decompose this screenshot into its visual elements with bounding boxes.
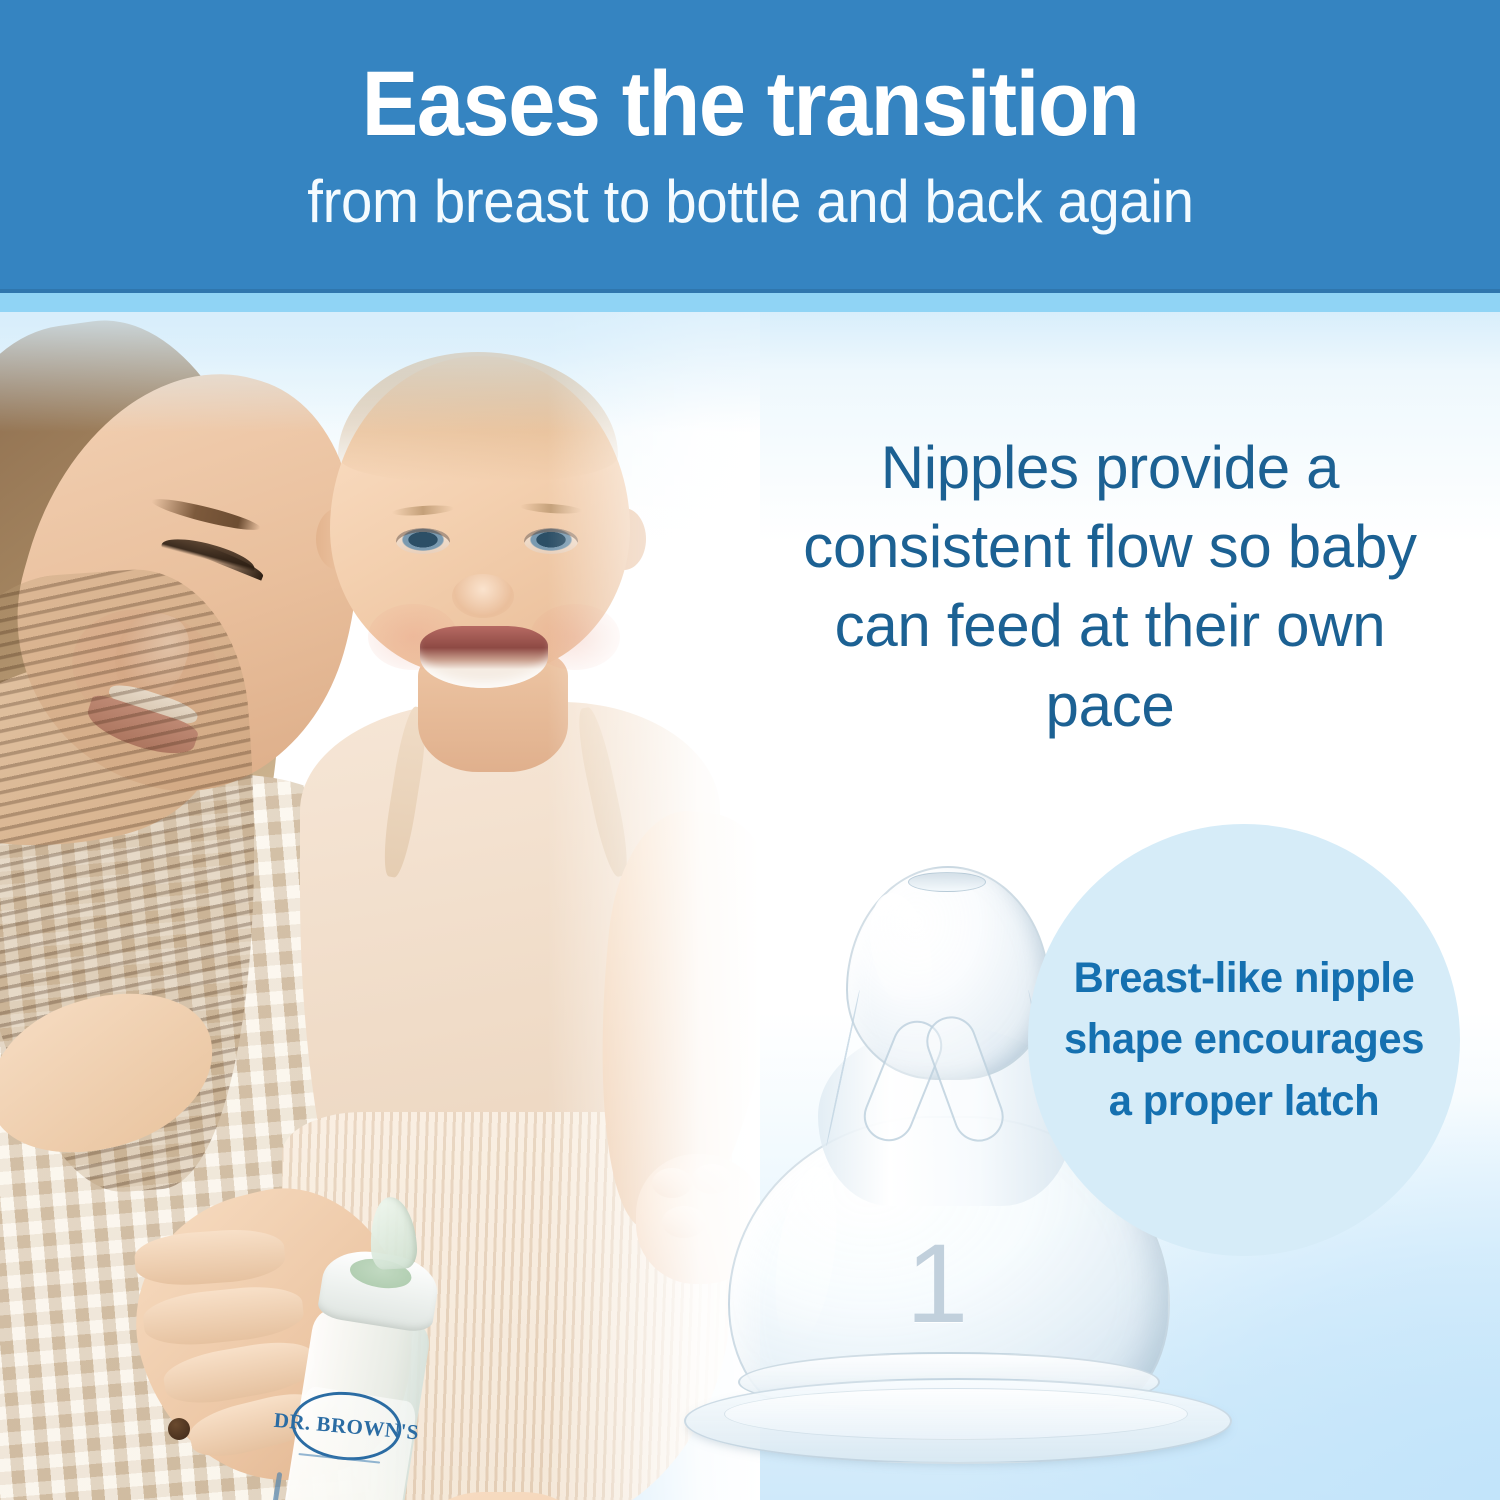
header-banner: Eases the transition from breast to bott… (0, 0, 1500, 292)
accent-band (0, 293, 1500, 312)
baby-eye-left (396, 528, 450, 554)
lifestyle-photo: DR. BROWN'S (0, 312, 760, 1500)
baby-eye-right (524, 528, 578, 554)
feature-description: Nipples provide a consistent flow so bab… (790, 428, 1430, 745)
baby-smile (420, 626, 548, 688)
nipple-opening (908, 872, 986, 892)
shirt-button (168, 1418, 190, 1440)
callout-badge: Breast-like nipple shape encourages a pr… (1028, 824, 1460, 1256)
page-subtitle: from breast to bottle and back again (307, 172, 1193, 232)
bottle-nipple (368, 1196, 418, 1270)
nipple-base-disc-inner (724, 1388, 1188, 1440)
baby-hair (338, 352, 618, 482)
flow-level-label: 1 (906, 1228, 968, 1340)
page-title: Eases the transition (362, 58, 1139, 150)
baby-nose (452, 574, 514, 618)
callout-text: Breast-like nipple shape encourages a pr… (1034, 948, 1453, 1131)
ad-canvas: Eases the transition from breast to bott… (0, 0, 1500, 1500)
photo-scene: DR. BROWN'S (0, 312, 760, 1500)
mother-finger (141, 1282, 306, 1350)
